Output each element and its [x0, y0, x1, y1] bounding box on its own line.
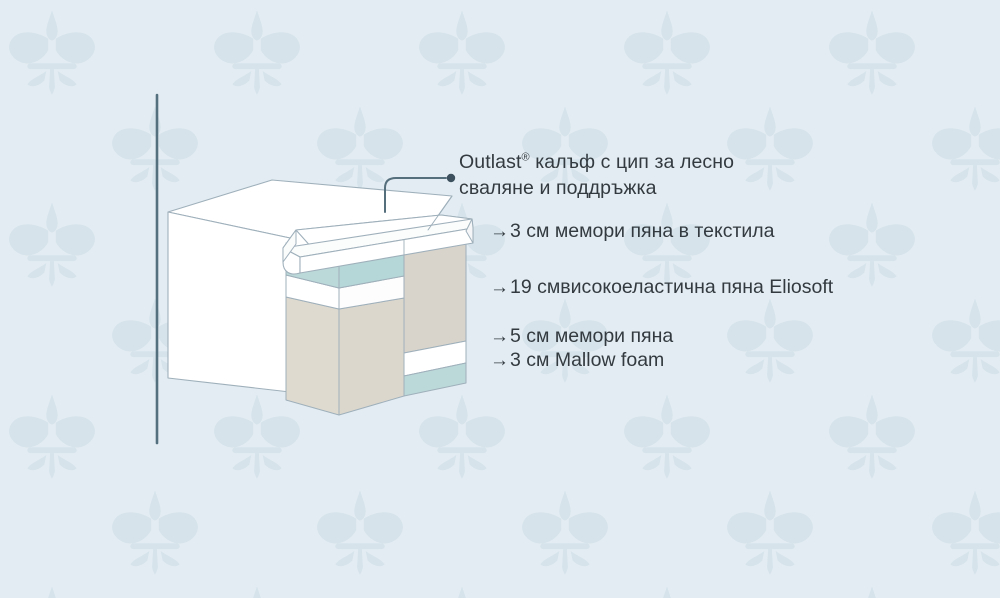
label-layer-2-text: 19 смвисокоеластична пяна Eliosoft	[510, 275, 833, 299]
label-outlast-cover: Outlast® калъф с цип за лесно сваляне и …	[459, 149, 799, 201]
layer-front-eliosoft-right	[339, 298, 404, 415]
arrow-right-icon: →	[490, 349, 509, 373]
arrow-right-icon: →	[490, 276, 509, 300]
diagram-canvas: Outlast® калъф с цип за лесно сваляне и …	[0, 0, 1000, 598]
label-layer-memory-textile: → 3 см мемори пяна в текстила	[490, 219, 775, 244]
arrow-right-icon: →	[490, 220, 509, 244]
label-layer-1-text: 3 см мемори пяна в текстила	[510, 219, 775, 243]
label-layer-3-text: 5 см мемори пяна	[510, 324, 673, 348]
label-layer-memory-5cm: → 5 см мемори пяна	[490, 324, 673, 349]
label-outlast-brand: Outlast	[459, 151, 521, 173]
mattress-body-front	[168, 212, 290, 392]
label-layer-mallow-foam: → 3 см Mallow foam	[490, 348, 664, 373]
registered-mark-icon: ®	[521, 152, 529, 164]
arrow-right-icon: →	[490, 325, 509, 349]
label-layer-eliosoft: → 19 смвисокоеластична пяна Eliosoft	[490, 275, 833, 300]
cover-leader-dot	[447, 174, 455, 182]
layer-front-eliosoft-left	[286, 297, 339, 415]
label-layer-4-text: 3 см Mallow foam	[510, 348, 664, 372]
